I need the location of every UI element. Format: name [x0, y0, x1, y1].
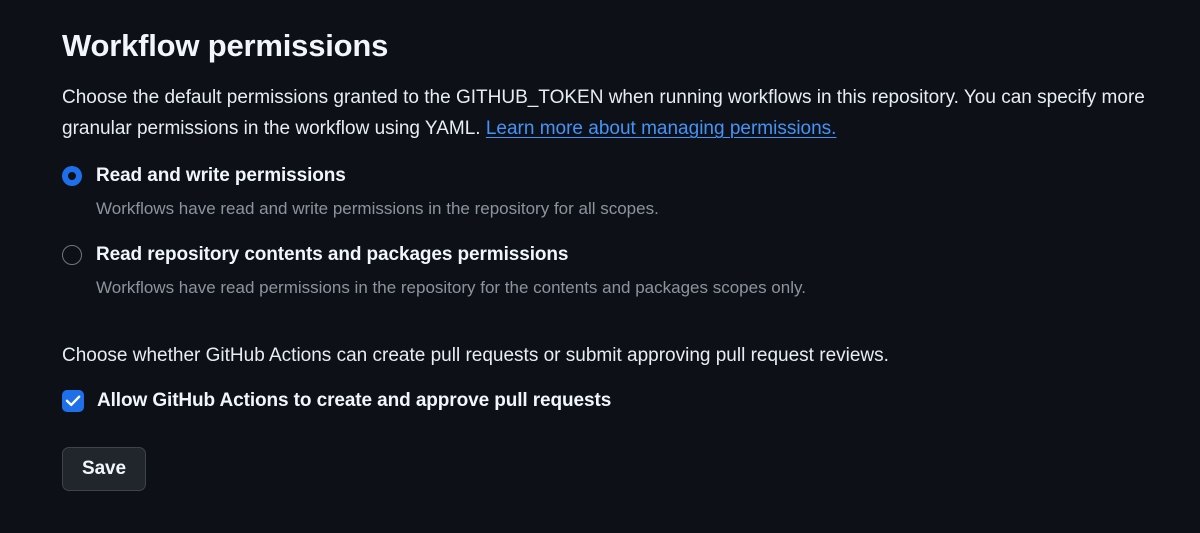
allow-pull-requests-row[interactable]: Allow GitHub Actions to create and appro… — [62, 389, 1200, 413]
checkbox-allow-pull-requests[interactable] — [62, 390, 84, 412]
radio-read-contents-packages[interactable] — [62, 245, 82, 265]
permission-option-read-contents-packages[interactable]: Read repository contents and packages pe… — [62, 243, 1200, 300]
pull-request-section-description: Choose whether GitHub Actions can create… — [62, 343, 1200, 369]
option-body: Read and write permissions Workflows hav… — [96, 164, 659, 221]
intro-paragraph: Choose the default permissions granted t… — [62, 82, 1157, 144]
permission-option-read-write[interactable]: Read and write permissions Workflows hav… — [62, 164, 1200, 221]
allow-pull-requests-label[interactable]: Allow GitHub Actions to create and appro… — [97, 389, 611, 413]
permission-radio-group: Read and write permissions Workflows hav… — [62, 164, 1200, 300]
learn-more-link[interactable]: Learn more about managing permissions. — [486, 118, 837, 139]
permission-option-label[interactable]: Read repository contents and packages pe… — [96, 243, 806, 267]
save-button[interactable]: Save — [62, 447, 146, 491]
option-body: Read repository contents and packages pe… — [96, 243, 806, 300]
workflow-permissions-panel: Workflow permissions Choose the default … — [0, 0, 1200, 491]
permission-option-description: Workflows have read permissions in the r… — [96, 276, 806, 300]
permission-option-label[interactable]: Read and write permissions — [96, 164, 659, 188]
page-title: Workflow permissions — [62, 26, 1200, 66]
permission-option-description: Workflows have read and write permission… — [96, 197, 659, 221]
checkmark-icon — [64, 392, 82, 410]
radio-read-write[interactable] — [62, 166, 82, 186]
